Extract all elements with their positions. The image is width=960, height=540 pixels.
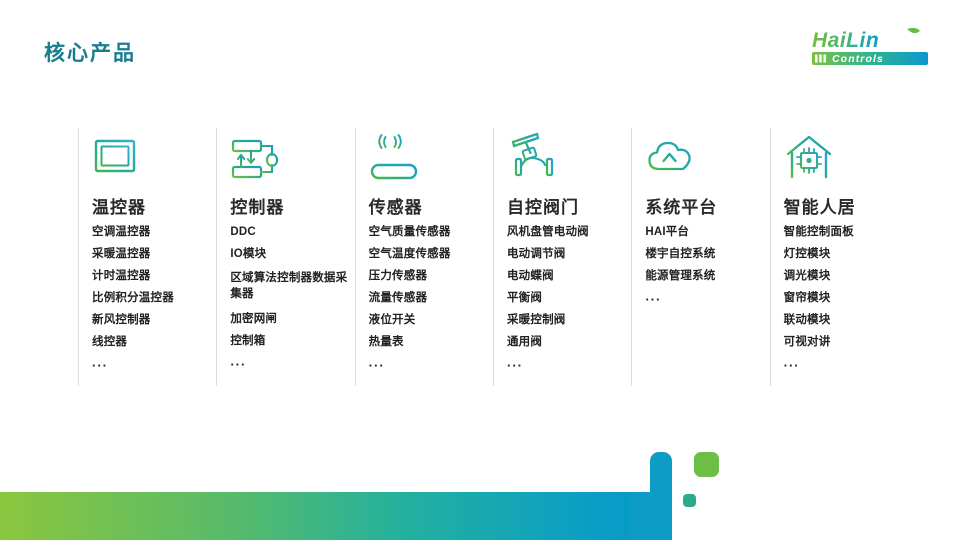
footer-gradient-bar xyxy=(0,492,660,540)
category-title: 系统平台 xyxy=(645,198,765,218)
list-item[interactable]: 智能控制面板 xyxy=(784,227,904,239)
category-item-list: HAI平台 楼宇自控系统 能源管理系统 ··· xyxy=(645,227,765,306)
column-divider xyxy=(631,128,632,386)
category-item-list: 空调温控器 采暖温控器 计时温控器 比例积分温控器 新风控制器 线控器 ··· xyxy=(92,227,212,372)
list-item[interactable]: 采暖温控器 xyxy=(92,249,212,261)
category-item-list: 风机盘管电动阀 电动调节阀 电动蝶阀 平衡阀 采暖控制阀 通用阀 ··· xyxy=(507,227,627,372)
list-item[interactable]: 通用阀 xyxy=(507,337,627,349)
list-item[interactable]: 计时温控器 xyxy=(92,271,212,283)
list-item[interactable]: 流量传感器 xyxy=(369,293,489,305)
list-ellipsis: ··· xyxy=(369,359,489,372)
list-item[interactable]: 楼宇自控系统 xyxy=(645,249,765,261)
category-item-list: DDC IO模块 区域算法控制器数据采集器 加密网闸 控制箱 ··· xyxy=(230,227,350,370)
list-item[interactable]: 平衡阀 xyxy=(507,293,627,305)
list-item[interactable]: 新风控制器 xyxy=(92,315,212,327)
footer-hook-shape xyxy=(630,452,672,540)
control-valve-icon xyxy=(507,126,627,182)
decor-square-teal xyxy=(683,494,696,507)
list-item[interactable]: 空气温度传感器 xyxy=(369,249,489,261)
list-ellipsis: ··· xyxy=(230,358,350,371)
list-ellipsis: ··· xyxy=(507,359,627,372)
list-item[interactable]: 调光模块 xyxy=(784,271,904,283)
category-title: 温控器 xyxy=(92,198,212,218)
svg-text:HaiLin: HaiLin xyxy=(812,29,879,52)
list-item[interactable]: 区域算法控制器数据采集器 xyxy=(230,271,350,303)
hailin-logo-mark: HaiLin Controls xyxy=(806,25,932,71)
list-item[interactable]: IO模块 xyxy=(230,249,350,261)
category-column-smart-home[interactable]: 智能人居 智能控制面板 灯控模块 调光模块 窗帘模块 联动模块 可视对讲 ··· xyxy=(770,126,908,396)
category-column-thermostat[interactable]: 温控器 空调温控器 采暖温控器 计时温控器 比例积分温控器 新风控制器 线控器 … xyxy=(78,126,216,396)
list-ellipsis: ··· xyxy=(784,359,904,372)
smart-home-chip-icon xyxy=(784,126,904,182)
list-item[interactable]: 采暖控制阀 xyxy=(507,315,627,327)
category-item-list: 智能控制面板 灯控模块 调光模块 窗帘模块 联动模块 可视对讲 ··· xyxy=(784,227,904,372)
product-category-columns: 温控器 空调温控器 采暖温控器 计时温控器 比例积分温控器 新风控制器 线控器 … xyxy=(78,126,908,396)
slide-root: 核心产品 HaiLin xyxy=(0,0,960,540)
list-item[interactable]: 空气质量传感器 xyxy=(369,227,489,239)
list-item[interactable]: 能源管理系统 xyxy=(645,271,765,283)
svg-text:Controls: Controls xyxy=(832,53,884,65)
category-title: 自控阀门 xyxy=(507,198,627,218)
list-item[interactable]: 窗帘模块 xyxy=(784,293,904,305)
column-divider xyxy=(216,128,217,386)
list-item[interactable]: 液位开关 xyxy=(369,315,489,327)
category-column-valve[interactable]: 自控阀门 风机盘管电动阀 电动调节阀 电动蝶阀 平衡阀 采暖控制阀 通用阀 ··… xyxy=(493,126,631,396)
column-divider xyxy=(78,128,79,386)
category-column-sensor[interactable]: 传感器 空气质量传感器 空气温度传感器 压力传感器 流量传感器 液位开关 热量表… xyxy=(355,126,493,396)
category-item-list: 空气质量传感器 空气温度传感器 压力传感器 流量传感器 液位开关 热量表 ··· xyxy=(369,227,489,372)
list-item[interactable]: HAI平台 xyxy=(645,227,765,239)
list-ellipsis: ··· xyxy=(645,293,765,306)
category-column-platform[interactable]: 系统平台 HAI平台 楼宇自控系统 能源管理系统 ··· xyxy=(631,126,769,396)
column-divider xyxy=(355,128,356,386)
list-item[interactable]: 电动蝶阀 xyxy=(507,271,627,283)
page-title: 核心产品 xyxy=(44,37,136,67)
list-item[interactable]: DDC xyxy=(230,227,350,239)
list-item[interactable]: 空调温控器 xyxy=(92,227,212,239)
list-item[interactable]: 电动调节阀 xyxy=(507,249,627,261)
list-item[interactable]: 热量表 xyxy=(369,337,489,349)
list-item[interactable]: 加密网闸 xyxy=(230,314,350,326)
list-item[interactable]: 控制箱 xyxy=(230,336,350,348)
controller-module-icon xyxy=(230,126,350,182)
list-item[interactable]: 风机盘管电动阀 xyxy=(507,227,627,239)
category-title: 智能人居 xyxy=(784,198,904,218)
list-item[interactable]: 比例积分温控器 xyxy=(92,293,212,305)
cloud-upload-icon xyxy=(645,126,765,182)
list-ellipsis: ··· xyxy=(92,359,212,372)
decor-square-green xyxy=(694,452,719,477)
wireless-sensor-icon xyxy=(369,126,489,182)
category-title: 传感器 xyxy=(369,198,489,218)
hailin-logo: HaiLin Controls HaiLin Controls xyxy=(806,25,932,71)
column-divider xyxy=(770,128,771,386)
list-item[interactable]: 灯控模块 xyxy=(784,249,904,261)
list-item[interactable]: 压力传感器 xyxy=(369,271,489,283)
list-item[interactable]: 联动模块 xyxy=(784,315,904,327)
list-item[interactable]: 线控器 xyxy=(92,337,212,349)
category-title: 控制器 xyxy=(230,198,350,218)
category-column-controller[interactable]: 控制器 DDC IO模块 区域算法控制器数据采集器 加密网闸 控制箱 ··· xyxy=(216,126,354,396)
monitor-thermostat-icon xyxy=(92,126,212,182)
footer-hook-stem xyxy=(650,452,672,540)
column-divider xyxy=(493,128,494,386)
list-item[interactable]: 可视对讲 xyxy=(784,337,904,349)
